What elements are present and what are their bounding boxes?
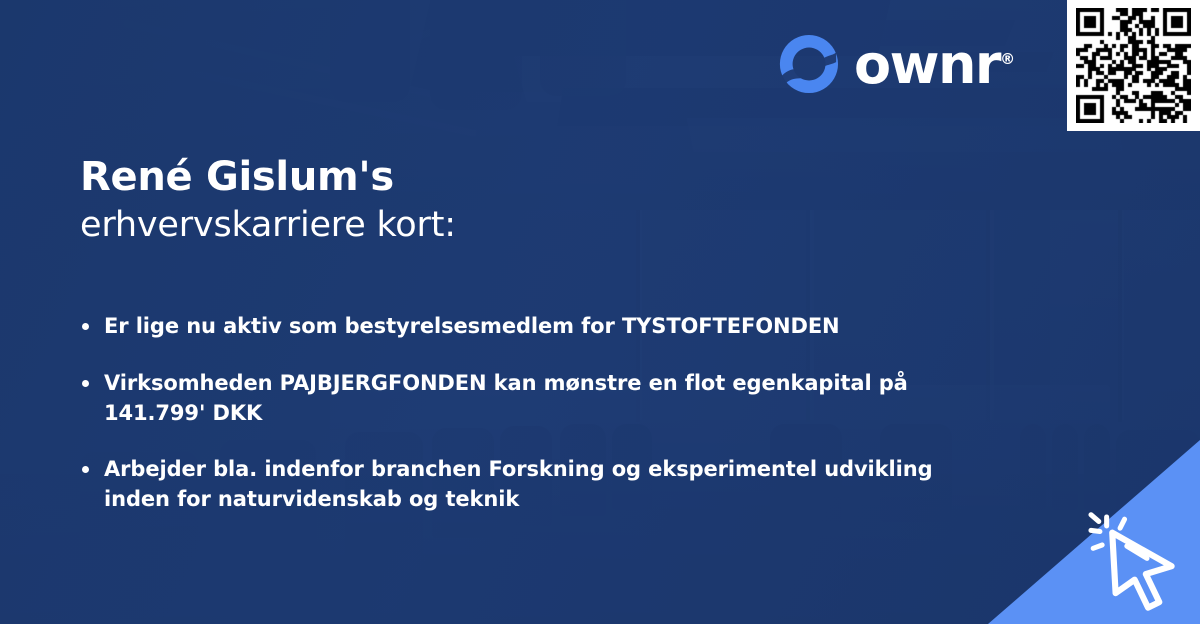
career-fact-text: Er lige nu aktiv som bestyrelsesmedlem f… [104,312,960,342]
career-fact-item: Er lige nu aktiv som bestyrelsesmedlem f… [80,312,960,342]
ownr-wordmark: ownr® [854,38,1015,92]
ownr-circle-logo-icon [778,33,840,95]
career-fact-text: Virksomheden PAJBJERGFONDEN kan mønstre … [104,369,960,429]
qr-code[interactable] [1076,8,1191,123]
subtitle: erhvervskarriere kort: [80,204,780,246]
click-cursor-icon [1082,508,1194,620]
career-fact-item: Virksomheden PAJBJERGFONDEN kan mønstre … [80,369,960,429]
page-title: René Gislum's erhvervskarriere kort: [80,155,780,246]
qr-code-panel[interactable] [1067,0,1200,131]
career-facts-list: Er lige nu aktiv som bestyrelsesmedlem f… [80,312,960,515]
business-career-card: ownr® René Gislum's erhvervskarriere kor… [0,0,1200,624]
person-name: René Gislum's [80,155,780,200]
career-fact-item: Arbejder bla. indenfor branchen Forsknin… [80,455,960,515]
bullet-dot-icon [82,466,89,473]
bullet-dot-icon [82,323,89,330]
registered-trademark-icon: ® [1000,50,1015,68]
ownr-wordmark-text: ownr [854,33,1000,96]
ownr-logo: ownr® [778,33,1015,95]
career-fact-text: Arbejder bla. indenfor branchen Forsknin… [104,455,960,515]
bullet-dot-icon [82,380,89,387]
